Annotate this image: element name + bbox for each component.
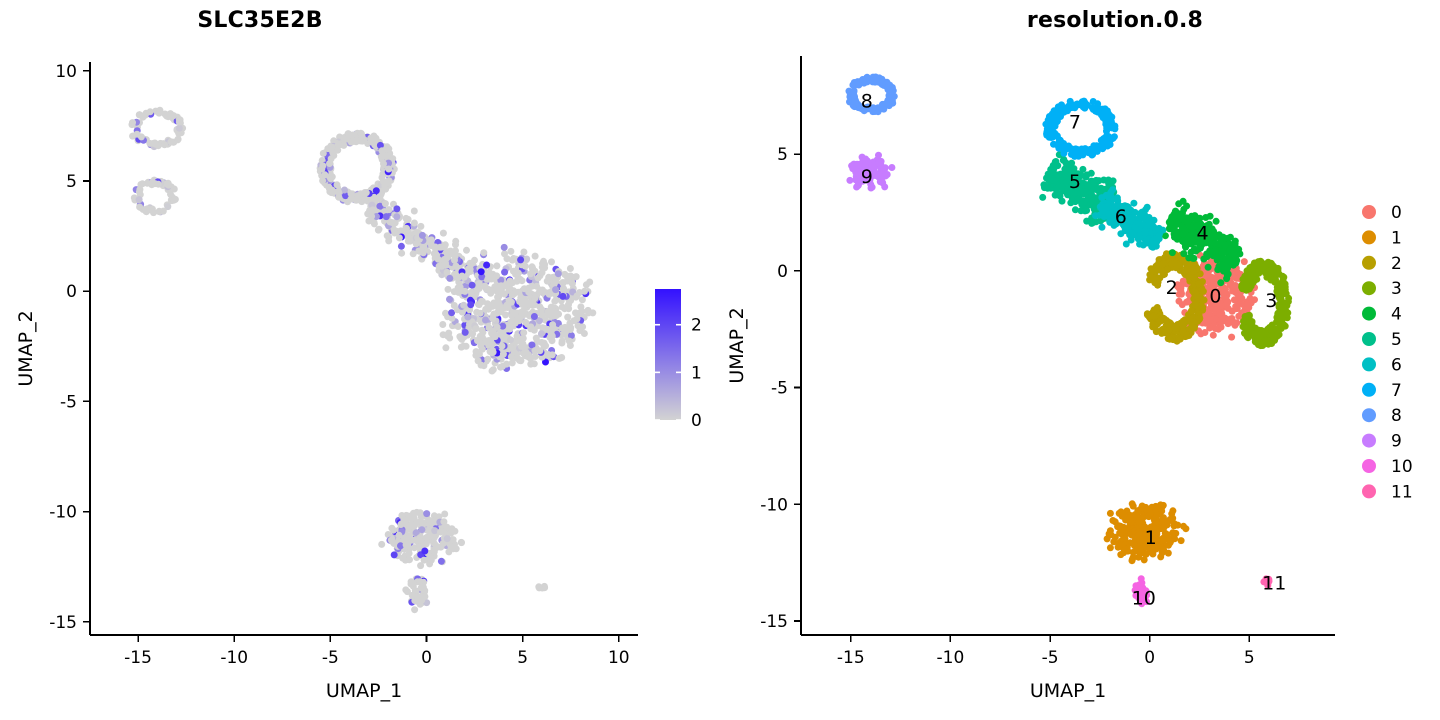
point-group-c-topleft-a <box>129 107 187 150</box>
legend-swatch-4 <box>1362 307 1376 321</box>
x-tick-label: 10 <box>608 648 630 668</box>
legend-item-3[interactable]: 3 <box>1362 279 1402 299</box>
legend-item-8[interactable]: 8 <box>1362 406 1402 426</box>
feature-plot-svg: -15-10-50510-15-10-50510UMAP_1UMAP_2012 <box>0 0 720 720</box>
cluster-points-6 <box>1092 186 1166 251</box>
point-group-c-speck <box>535 583 548 592</box>
legend-swatch-6 <box>1362 357 1376 371</box>
axes: -15-10-505-15-10-505UMAP_1UMAP_2 <box>726 56 1335 702</box>
legend-item-0[interactable]: 0 <box>1362 203 1402 223</box>
y-tick-label: -5 <box>60 392 77 412</box>
colorbar: 012 <box>655 289 702 431</box>
y-tick-label: -10 <box>49 503 77 523</box>
x-tick-label: -5 <box>322 648 339 668</box>
scatter-points <box>129 107 597 614</box>
cluster-label-8: 8 <box>861 90 873 112</box>
legend-label-5: 5 <box>1391 330 1402 350</box>
y-tick-label: 0 <box>66 282 77 302</box>
x-axis-title: UMAP_1 <box>1030 680 1106 702</box>
x-tick-label: -10 <box>937 648 965 668</box>
x-tick-label: 5 <box>1244 648 1255 668</box>
legend-label-2: 2 <box>1391 254 1402 274</box>
legend-item-10[interactable]: 10 <box>1362 457 1413 477</box>
legend-swatch-10 <box>1362 459 1376 473</box>
x-axis-title: UMAP_1 <box>326 680 402 702</box>
legend-swatch-1 <box>1362 230 1376 244</box>
cluster-label-4: 4 <box>1196 222 1208 244</box>
scatter-points <box>846 74 1293 608</box>
x-tick-label: -15 <box>837 648 865 668</box>
legend-label-7: 7 <box>1391 381 1402 401</box>
cluster-plot-svg: -15-10-505-15-10-505UMAP_1UMAP_201234567… <box>720 0 1440 720</box>
y-tick-label: 0 <box>777 262 788 282</box>
point-group-c-bottom <box>378 509 465 569</box>
colorbar-tick-label: 2 <box>691 316 702 336</box>
legend-swatch-9 <box>1362 434 1376 448</box>
colorbar-gradient <box>655 289 681 420</box>
legend-item-11[interactable]: 11 <box>1362 482 1413 502</box>
legend-swatch-5 <box>1362 332 1376 346</box>
legend-label-6: 6 <box>1391 355 1402 375</box>
legend-label-0: 0 <box>1391 203 1402 223</box>
figure-root: SLC35E2B -15-10-50510-15-10-50510UMAP_1U… <box>0 0 1440 720</box>
x-tick-label: -15 <box>124 648 152 668</box>
legend-label-10: 10 <box>1391 457 1413 477</box>
cluster-label-5: 5 <box>1069 171 1081 193</box>
legend-swatch-0 <box>1362 205 1376 219</box>
cluster-label-3: 3 <box>1265 290 1277 312</box>
cluster-label-11: 11 <box>1262 572 1286 594</box>
panel-feature-plot: SLC35E2B -15-10-50510-15-10-50510UMAP_1U… <box>0 0 720 720</box>
legend-swatch-7 <box>1362 383 1376 397</box>
cluster-legend[interactable]: 01234567891011 <box>1362 203 1413 502</box>
legend-item-6[interactable]: 6 <box>1362 355 1402 375</box>
legend-item-9[interactable]: 9 <box>1362 432 1402 452</box>
colorbar-tick-label: 0 <box>691 411 702 431</box>
cluster-label-1: 1 <box>1145 527 1157 549</box>
legend-item-5[interactable]: 5 <box>1362 330 1402 350</box>
cluster-label-0: 0 <box>1209 285 1221 307</box>
panel-cluster-plot: resolution.0.8 -15-10-505-15-10-505UMAP_… <box>720 0 1440 720</box>
point-group-c-upper-ring <box>317 130 398 206</box>
legend-item-2[interactable]: 2 <box>1362 254 1402 274</box>
legend-item-7[interactable]: 7 <box>1362 381 1402 401</box>
legend-swatch-2 <box>1362 256 1376 270</box>
cluster-label-9: 9 <box>861 166 873 188</box>
legend-item-1[interactable]: 1 <box>1362 228 1402 248</box>
cluster-label-6: 6 <box>1115 206 1127 228</box>
legend-label-4: 4 <box>1391 305 1402 325</box>
y-tick-label: -15 <box>760 612 788 632</box>
point-group-c-topleft-b <box>131 177 179 217</box>
x-tick-label: 0 <box>1144 648 1155 668</box>
legend-label-1: 1 <box>1391 228 1402 248</box>
y-axis-title: UMAP_2 <box>726 307 748 383</box>
legend-swatch-8 <box>1362 408 1376 422</box>
colorbar-tick-label: 1 <box>691 363 702 383</box>
cluster-label-7: 7 <box>1069 111 1081 133</box>
legend-label-11: 11 <box>1391 482 1413 502</box>
legend-label-3: 3 <box>1391 279 1402 299</box>
y-tick-label: -5 <box>771 379 788 399</box>
y-tick-label: -10 <box>760 495 788 515</box>
legend-swatch-11 <box>1362 484 1376 498</box>
point-group-c-bottom-tail <box>402 575 430 613</box>
legend-item-4[interactable]: 4 <box>1362 305 1402 325</box>
y-tick-label: 10 <box>55 62 77 82</box>
y-tick-label: 5 <box>66 172 77 192</box>
legend-label-8: 8 <box>1391 406 1402 426</box>
y-tick-label: -15 <box>49 613 77 633</box>
y-tick-label: 5 <box>777 145 788 165</box>
x-tick-label: -10 <box>220 648 248 668</box>
legend-label-9: 9 <box>1391 432 1402 452</box>
x-tick-label: 0 <box>421 648 432 668</box>
x-tick-label: -5 <box>1042 648 1059 668</box>
cluster-label-2: 2 <box>1166 277 1178 299</box>
y-axis-title: UMAP_2 <box>15 310 37 386</box>
legend-swatch-3 <box>1362 281 1376 295</box>
x-tick-label: 5 <box>517 648 528 668</box>
cluster-label-10: 10 <box>1132 588 1156 610</box>
